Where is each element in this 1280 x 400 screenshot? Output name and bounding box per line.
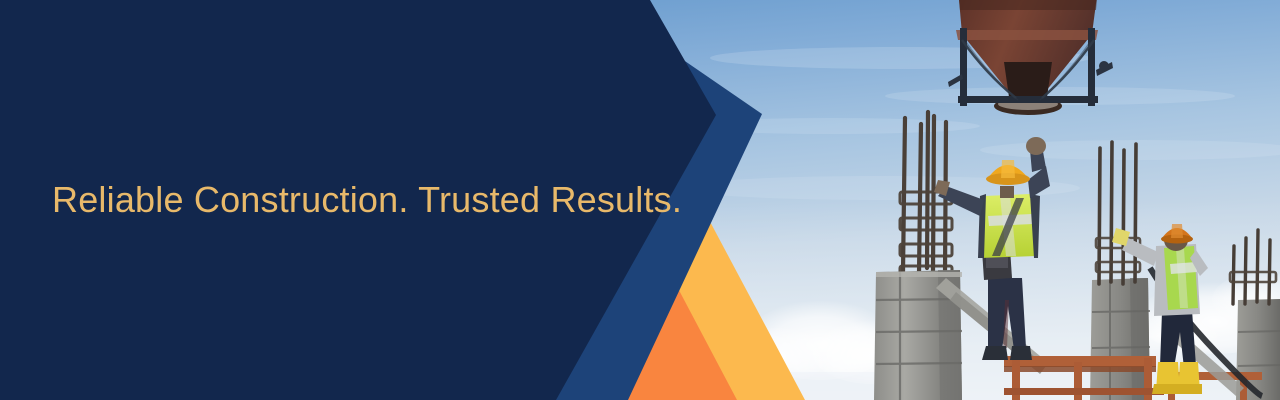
banner-content: Reliable Construction. Trusted Results. — [52, 0, 682, 400]
banner-headline: Reliable Construction. Trusted Results. — [52, 179, 682, 220]
hero-banner: Reliable Construction. Trusted Results. — [0, 0, 1280, 400]
